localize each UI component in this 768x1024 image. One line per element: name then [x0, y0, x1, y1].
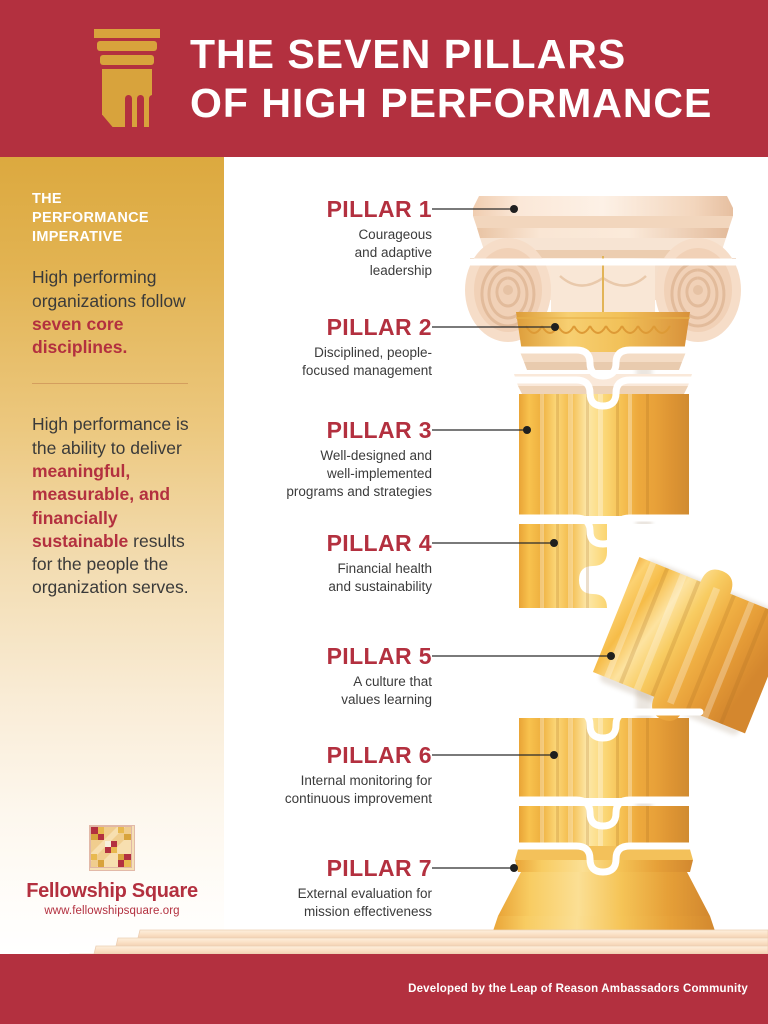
column-necking — [514, 352, 692, 394]
pillar-1-desc-line-1: Courageous — [132, 226, 432, 244]
column-volutes — [465, 238, 741, 342]
pillar-5-desc-line-2: values learning — [132, 691, 432, 709]
pillar-1-number: PILLAR 1 — [132, 198, 432, 221]
pillar-label-6: PILLAR 6 Internal monitoring for continu… — [132, 744, 432, 808]
infographic-page: THE SEVEN PILLARS OF HIGH PERFORMANCE TH… — [0, 0, 768, 1024]
leader-dot-6 — [550, 751, 558, 759]
pillar-label-7: PILLAR 7 External evaluation for mission… — [132, 857, 432, 921]
leader-dot-2 — [551, 323, 559, 331]
separator-7 — [505, 800, 700, 826]
pillar-1-desc-line-3: leadership — [132, 262, 432, 280]
leader-dot-7 — [510, 864, 518, 872]
leader-dot-3 — [523, 426, 531, 434]
pillar-label-5: PILLAR 5 A culture that values learning — [132, 645, 432, 709]
pillar-6-desc-line-2: continuous improvement — [132, 790, 432, 808]
column-base — [488, 846, 720, 946]
leader-dots — [510, 205, 615, 872]
separator-6 — [505, 712, 700, 738]
quilt-square-svg — [90, 826, 132, 868]
pillar-7-number: PILLAR 7 — [132, 857, 432, 880]
column-icon-abacus — [94, 29, 160, 38]
column-flute-shadows — [556, 394, 649, 846]
pillar-6-desc-line-1: Internal monitoring for — [132, 772, 432, 790]
puzzle-separators — [470, 262, 738, 872]
leader-lines — [432, 209, 610, 868]
pillar-4-description: Financial health and sustainability — [132, 560, 432, 596]
column-shaft-segment-middle — [519, 524, 689, 608]
separator-4 — [505, 518, 700, 544]
pillar-2-number: PILLAR 2 — [132, 316, 432, 339]
column-icon-flute-1 — [125, 95, 132, 127]
separator-3 — [470, 380, 738, 406]
pillar-4-number: PILLAR 4 — [132, 532, 432, 555]
pillar-3-description: Well-designed and well-implemented progr… — [132, 447, 432, 501]
page-title-line-1: THE SEVEN PILLARS — [190, 34, 712, 75]
column-echinus-band — [516, 312, 690, 352]
pillar-6-description: Internal monitoring for continuous impro… — [132, 772, 432, 808]
pillar-1-desc-line-2: and adaptive — [132, 244, 432, 262]
separator-2 — [472, 350, 734, 376]
pillar-1-description: Courageous and adaptive leadership — [132, 226, 432, 280]
pillar-3-number: PILLAR 3 — [132, 419, 432, 442]
column-icon-flute-3 — [149, 95, 156, 127]
pillar-5-desc-line-1: A culture that — [132, 673, 432, 691]
separator-8 — [500, 846, 706, 872]
sidebar-divider — [32, 383, 188, 384]
column-icon — [88, 27, 166, 127]
column-shaft-segment-upper — [519, 394, 689, 516]
column-icon-echinus-bottom — [100, 55, 154, 65]
pillar-2-desc-line-2: focused management — [132, 362, 432, 380]
sidebar-paragraph-1-highlight: seven core disciplines. — [32, 314, 127, 357]
column-icon-echinus-top — [97, 41, 157, 51]
column-fluting — [540, 394, 632, 846]
pillar-5-number: PILLAR 5 — [132, 645, 432, 668]
quilt-square-icon — [89, 825, 135, 871]
footer-credit: Developed by the Leap of Reason Ambassad… — [408, 983, 748, 995]
column-abacus — [473, 196, 733, 258]
pillar-7-desc-line-2: mission effectiveness — [132, 903, 432, 921]
pillar-label-1: PILLAR 1 Courageous and adaptive leaders… — [132, 198, 432, 280]
column-shaft-segment-lower — [519, 718, 689, 798]
pillar-3-desc-line-3: programs and strategies — [132, 483, 432, 501]
header-banner: THE SEVEN PILLARS OF HIGH PERFORMANCE — [0, 0, 768, 157]
page-title: THE SEVEN PILLARS OF HIGH PERFORMANCE — [190, 34, 712, 124]
pillar-3-desc-line-2: well-implemented — [132, 465, 432, 483]
column-icon-flute-2 — [137, 95, 144, 127]
leader-dot-5 — [607, 652, 615, 660]
detached-puzzle-piece — [586, 540, 768, 750]
pillar-7-description: External evaluation for mission effectiv… — [132, 885, 432, 921]
pillar-2-desc-line-1: Disciplined, people- — [132, 344, 432, 362]
footer-bar: Developed by the Leap of Reason Ambassad… — [0, 954, 768, 1024]
leader-dot-1 — [510, 205, 518, 213]
pillar-label-2: PILLAR 2 Disciplined, people- focused ma… — [132, 316, 432, 380]
pillar-label-4: PILLAR 4 Financial health and sustainabi… — [132, 532, 432, 596]
pillar-label-3: PILLAR 3 Well-designed and well-implemen… — [132, 419, 432, 501]
page-title-line-2: OF HIGH PERFORMANCE — [190, 83, 712, 124]
pillar-6-number: PILLAR 6 — [132, 744, 432, 767]
column-icon-shaft — [102, 69, 152, 127]
pillar-4-desc-line-2: and sustainability — [132, 578, 432, 596]
pillar-7-desc-line-1: External evaluation for — [132, 885, 432, 903]
column-shaft-segment-bottom — [519, 806, 689, 846]
pillar-4-desc-line-1: Financial health — [132, 560, 432, 578]
pillar-3-desc-line-1: Well-designed and — [132, 447, 432, 465]
pillar-5-description: A culture that values learning — [132, 673, 432, 709]
column-shadow — [636, 210, 652, 910]
pillar-2-description: Disciplined, people- focused management — [132, 344, 432, 380]
leader-dot-4 — [550, 539, 558, 547]
